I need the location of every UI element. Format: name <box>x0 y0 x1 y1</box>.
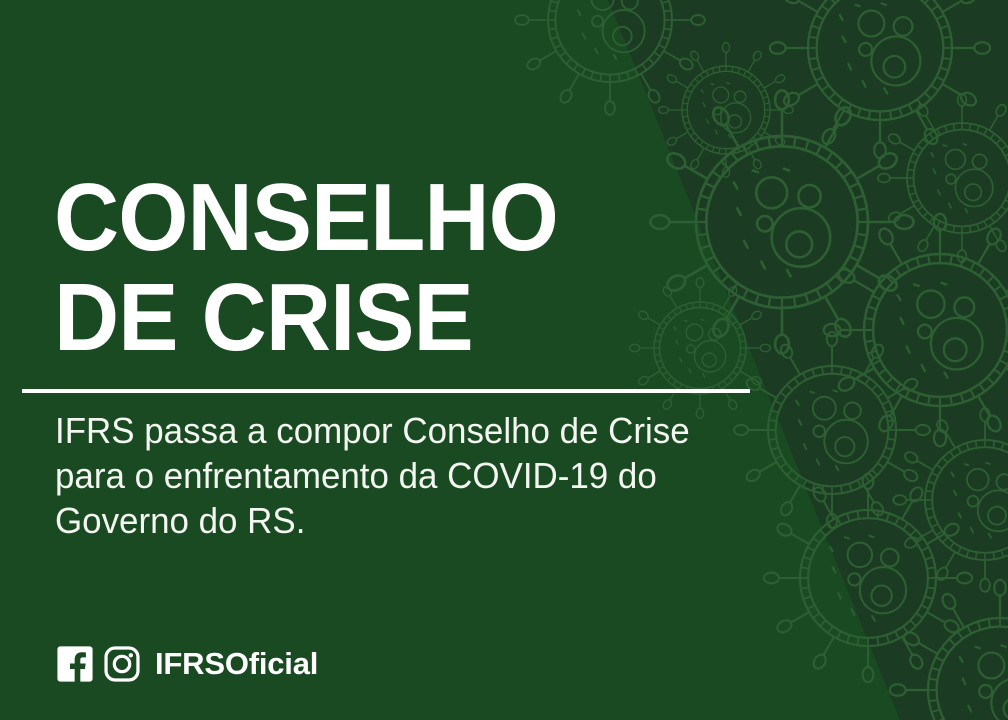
title-divider <box>22 389 750 393</box>
facebook-icon[interactable] <box>56 645 94 683</box>
poster-content: CONSELHO DE CRISE IFRS passa a compor Co… <box>0 0 1008 720</box>
poster-canvas: CONSELHO DE CRISE IFRS passa a compor Co… <box>0 0 1008 720</box>
poster-subtitle: IFRS passa a compor Conselho de Crise pa… <box>55 408 753 543</box>
social-handle[interactable]: IFRSOficial <box>155 645 318 683</box>
social-footer: IFRSOficial <box>56 643 318 685</box>
page-title: CONSELHO DE CRISE <box>54 168 731 368</box>
instagram-icon[interactable] <box>103 645 141 683</box>
